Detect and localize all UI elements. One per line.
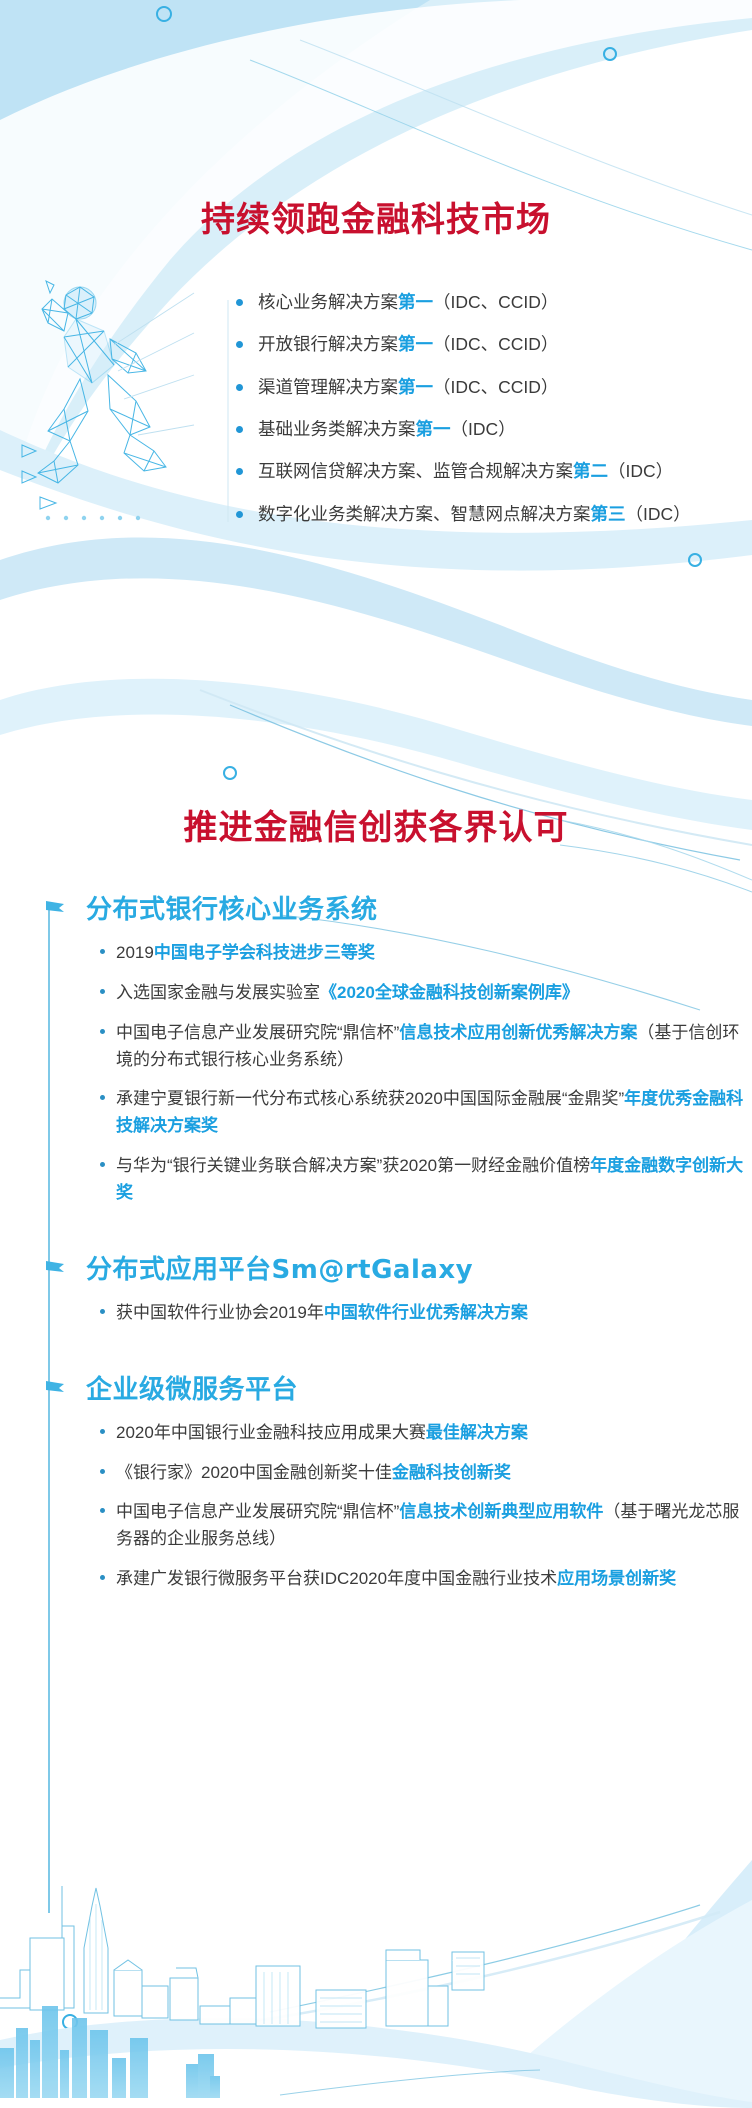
group-heading-text: 分布式银行核心业务系统	[86, 895, 378, 925]
section2-body: 分布式银行核心业务系统 2019中国电子学会科技进步三等奖 入选国家金融与发展实…	[0, 889, 752, 1593]
list-item: 数字化业务类解决方案、智慧网点解决方案第三（IDC）	[236, 500, 736, 528]
list-item: 基础业务类解决方案第一（IDC）	[236, 415, 736, 443]
list-item: 2019中国电子学会科技进步三等奖	[98, 940, 752, 967]
text-highlight: 应用场景创新奖	[557, 1569, 676, 1588]
city-skyline-icon	[0, 1878, 752, 2108]
text-highlight: 信息技术创新典型应用软件	[399, 1502, 603, 1521]
section-fintech-recognition: 推进金融信创获各界认可 分布式银行核心业务系统 2019中国电子学会科技进步三等…	[0, 800, 752, 1623]
timeline-spine	[48, 903, 50, 1913]
text-highlight: 金融科技创新奖	[392, 1463, 511, 1482]
infographic-page: 持续领跑金融科技市场	[0, 0, 752, 2108]
group-heading: 分布式应用平台Sm@rtGalaxy	[86, 1249, 752, 1286]
item-text-pre: 开放银行解决方案	[258, 334, 398, 354]
text-normal: 《银行家》2020中国金融创新奖十佳	[116, 1463, 392, 1482]
flag-marker-icon	[46, 1381, 66, 1394]
list-item: 承建宁夏银行新一代分布式核心系统获2020中国国际金融展“金鼎奖”年度优秀金融科…	[98, 1086, 752, 1140]
list-item: 《银行家》2020中国金融创新奖十佳金融科技创新奖	[98, 1460, 752, 1487]
text-normal: 与华为“银行关键业务联合解决方案”获2020第一财经金融价值榜	[116, 1156, 590, 1175]
section-market-leadership: 持续领跑金融科技市场	[0, 0, 752, 640]
item-text-pre: 数字化业务类解决方案、智慧网点解决方案	[258, 504, 591, 524]
text-highlight: 中国软件行业优秀解决方案	[324, 1303, 528, 1322]
item-rank: 第二	[573, 461, 608, 481]
section1-bullet-list: 核心业务解决方案第一（IDC、CCID） 开放银行解决方案第一（IDC、CCID…	[236, 288, 736, 542]
item-text-pre: 渠道管理解决方案	[258, 377, 398, 397]
text-normal: 2020年中国银行业金融科技应用成果大赛	[116, 1423, 426, 1442]
text-highlight: 最佳解决方案	[426, 1423, 528, 1442]
flag-marker-icon	[46, 1261, 66, 1274]
section2-title: 推进金融信创获各界认可	[0, 800, 752, 849]
item-text-pre: 基础业务类解决方案	[258, 419, 416, 439]
list-item: 获中国软件行业协会2019年中国软件行业优秀解决方案	[98, 1300, 752, 1327]
award-group: 企业级微服务平台 2020年中国银行业金融科技应用成果大赛最佳解决方案 《银行家…	[58, 1369, 752, 1593]
item-text-post: （IDC）	[451, 419, 516, 439]
text-normal: 获中国软件行业协会2019年	[116, 1303, 324, 1322]
text-normal: 2019	[116, 943, 154, 962]
list-item: 与华为“银行关键业务联合解决方案”获2020第一财经金融价值榜年度金融数字创新大…	[98, 1153, 752, 1207]
list-item: 渠道管理解决方案第一（IDC、CCID）	[236, 373, 736, 401]
text-normal: 承建宁夏银行新一代分布式核心系统获2020中国国际金融展“金鼎奖”	[116, 1089, 624, 1108]
flag-marker-icon	[46, 901, 66, 914]
item-text-post: （IDC）	[608, 461, 673, 481]
text-highlight: 《2020全球金融科技创新案例库》	[320, 983, 579, 1002]
item-rank: 第一	[416, 419, 451, 439]
item-rank: 第一	[398, 377, 433, 397]
text-normal: 中国电子信息产业发展研究院“鼎信杯”	[116, 1502, 399, 1521]
item-text-post: （IDC、CCID）	[433, 377, 558, 397]
item-text-pre: 核心业务解决方案	[258, 292, 398, 312]
text-highlight: 中国电子学会科技进步三等奖	[154, 943, 375, 962]
text-highlight: 信息技术应用创新优秀解决方案	[399, 1023, 637, 1042]
running-man-wireframe-icon	[18, 275, 198, 535]
item-text-post: （IDC）	[626, 504, 691, 524]
list-item: 核心业务解决方案第一（IDC、CCID）	[236, 288, 736, 316]
group-heading: 企业级微服务平台	[86, 1369, 752, 1406]
group-heading-text: 分布式应用平台Sm@rtGalaxy	[86, 1255, 473, 1285]
group-heading: 分布式银行核心业务系统	[86, 889, 752, 926]
section1-title: 持续领跑金融科技市场	[0, 192, 752, 241]
list-item: 中国电子信息产业发展研究院“鼎信杯”信息技术创新典型应用软件（基于曙光龙芯服务器…	[98, 1499, 752, 1553]
item-text-post: （IDC、CCID）	[433, 292, 558, 312]
item-rank: 第一	[398, 334, 433, 354]
list-item: 中国电子信息产业发展研究院“鼎信杯”信息技术应用创新优秀解决方案（基于信创环境的…	[98, 1020, 752, 1074]
group-item-list: 2019中国电子学会科技进步三等奖 入选国家金融与发展实验室《2020全球金融科…	[98, 940, 752, 1207]
list-item: 开放银行解决方案第一（IDC、CCID）	[236, 330, 736, 358]
list-item: 互联网信贷解决方案、监管合规解决方案第二（IDC）	[236, 457, 736, 485]
item-rank: 第三	[591, 504, 626, 524]
text-normal: 入选国家金融与发展实验室	[116, 983, 320, 1002]
text-normal: 中国电子信息产业发展研究院“鼎信杯”	[116, 1023, 399, 1042]
text-normal: 承建广发银行微服务平台获IDC2020年度中国金融行业技术	[116, 1569, 557, 1588]
group-item-list: 获中国软件行业协会2019年中国软件行业优秀解决方案	[98, 1300, 752, 1327]
award-group: 分布式应用平台Sm@rtGalaxy 获中国软件行业协会2019年中国软件行业优…	[58, 1249, 752, 1327]
group-heading-text: 企业级微服务平台	[86, 1375, 298, 1405]
list-item: 入选国家金融与发展实验室《2020全球金融科技创新案例库》	[98, 980, 752, 1007]
group-item-list: 2020年中国银行业金融科技应用成果大赛最佳解决方案 《银行家》2020中国金融…	[98, 1420, 752, 1593]
award-group: 分布式银行核心业务系统 2019中国电子学会科技进步三等奖 入选国家金融与发展实…	[58, 889, 752, 1207]
item-rank: 第一	[398, 292, 433, 312]
list-item: 承建广发银行微服务平台获IDC2020年度中国金融行业技术应用场景创新奖	[98, 1566, 752, 1593]
list-item: 2020年中国银行业金融科技应用成果大赛最佳解决方案	[98, 1420, 752, 1447]
item-text-post: （IDC、CCID）	[433, 334, 558, 354]
item-text-pre: 互联网信贷解决方案、监管合规解决方案	[258, 461, 573, 481]
